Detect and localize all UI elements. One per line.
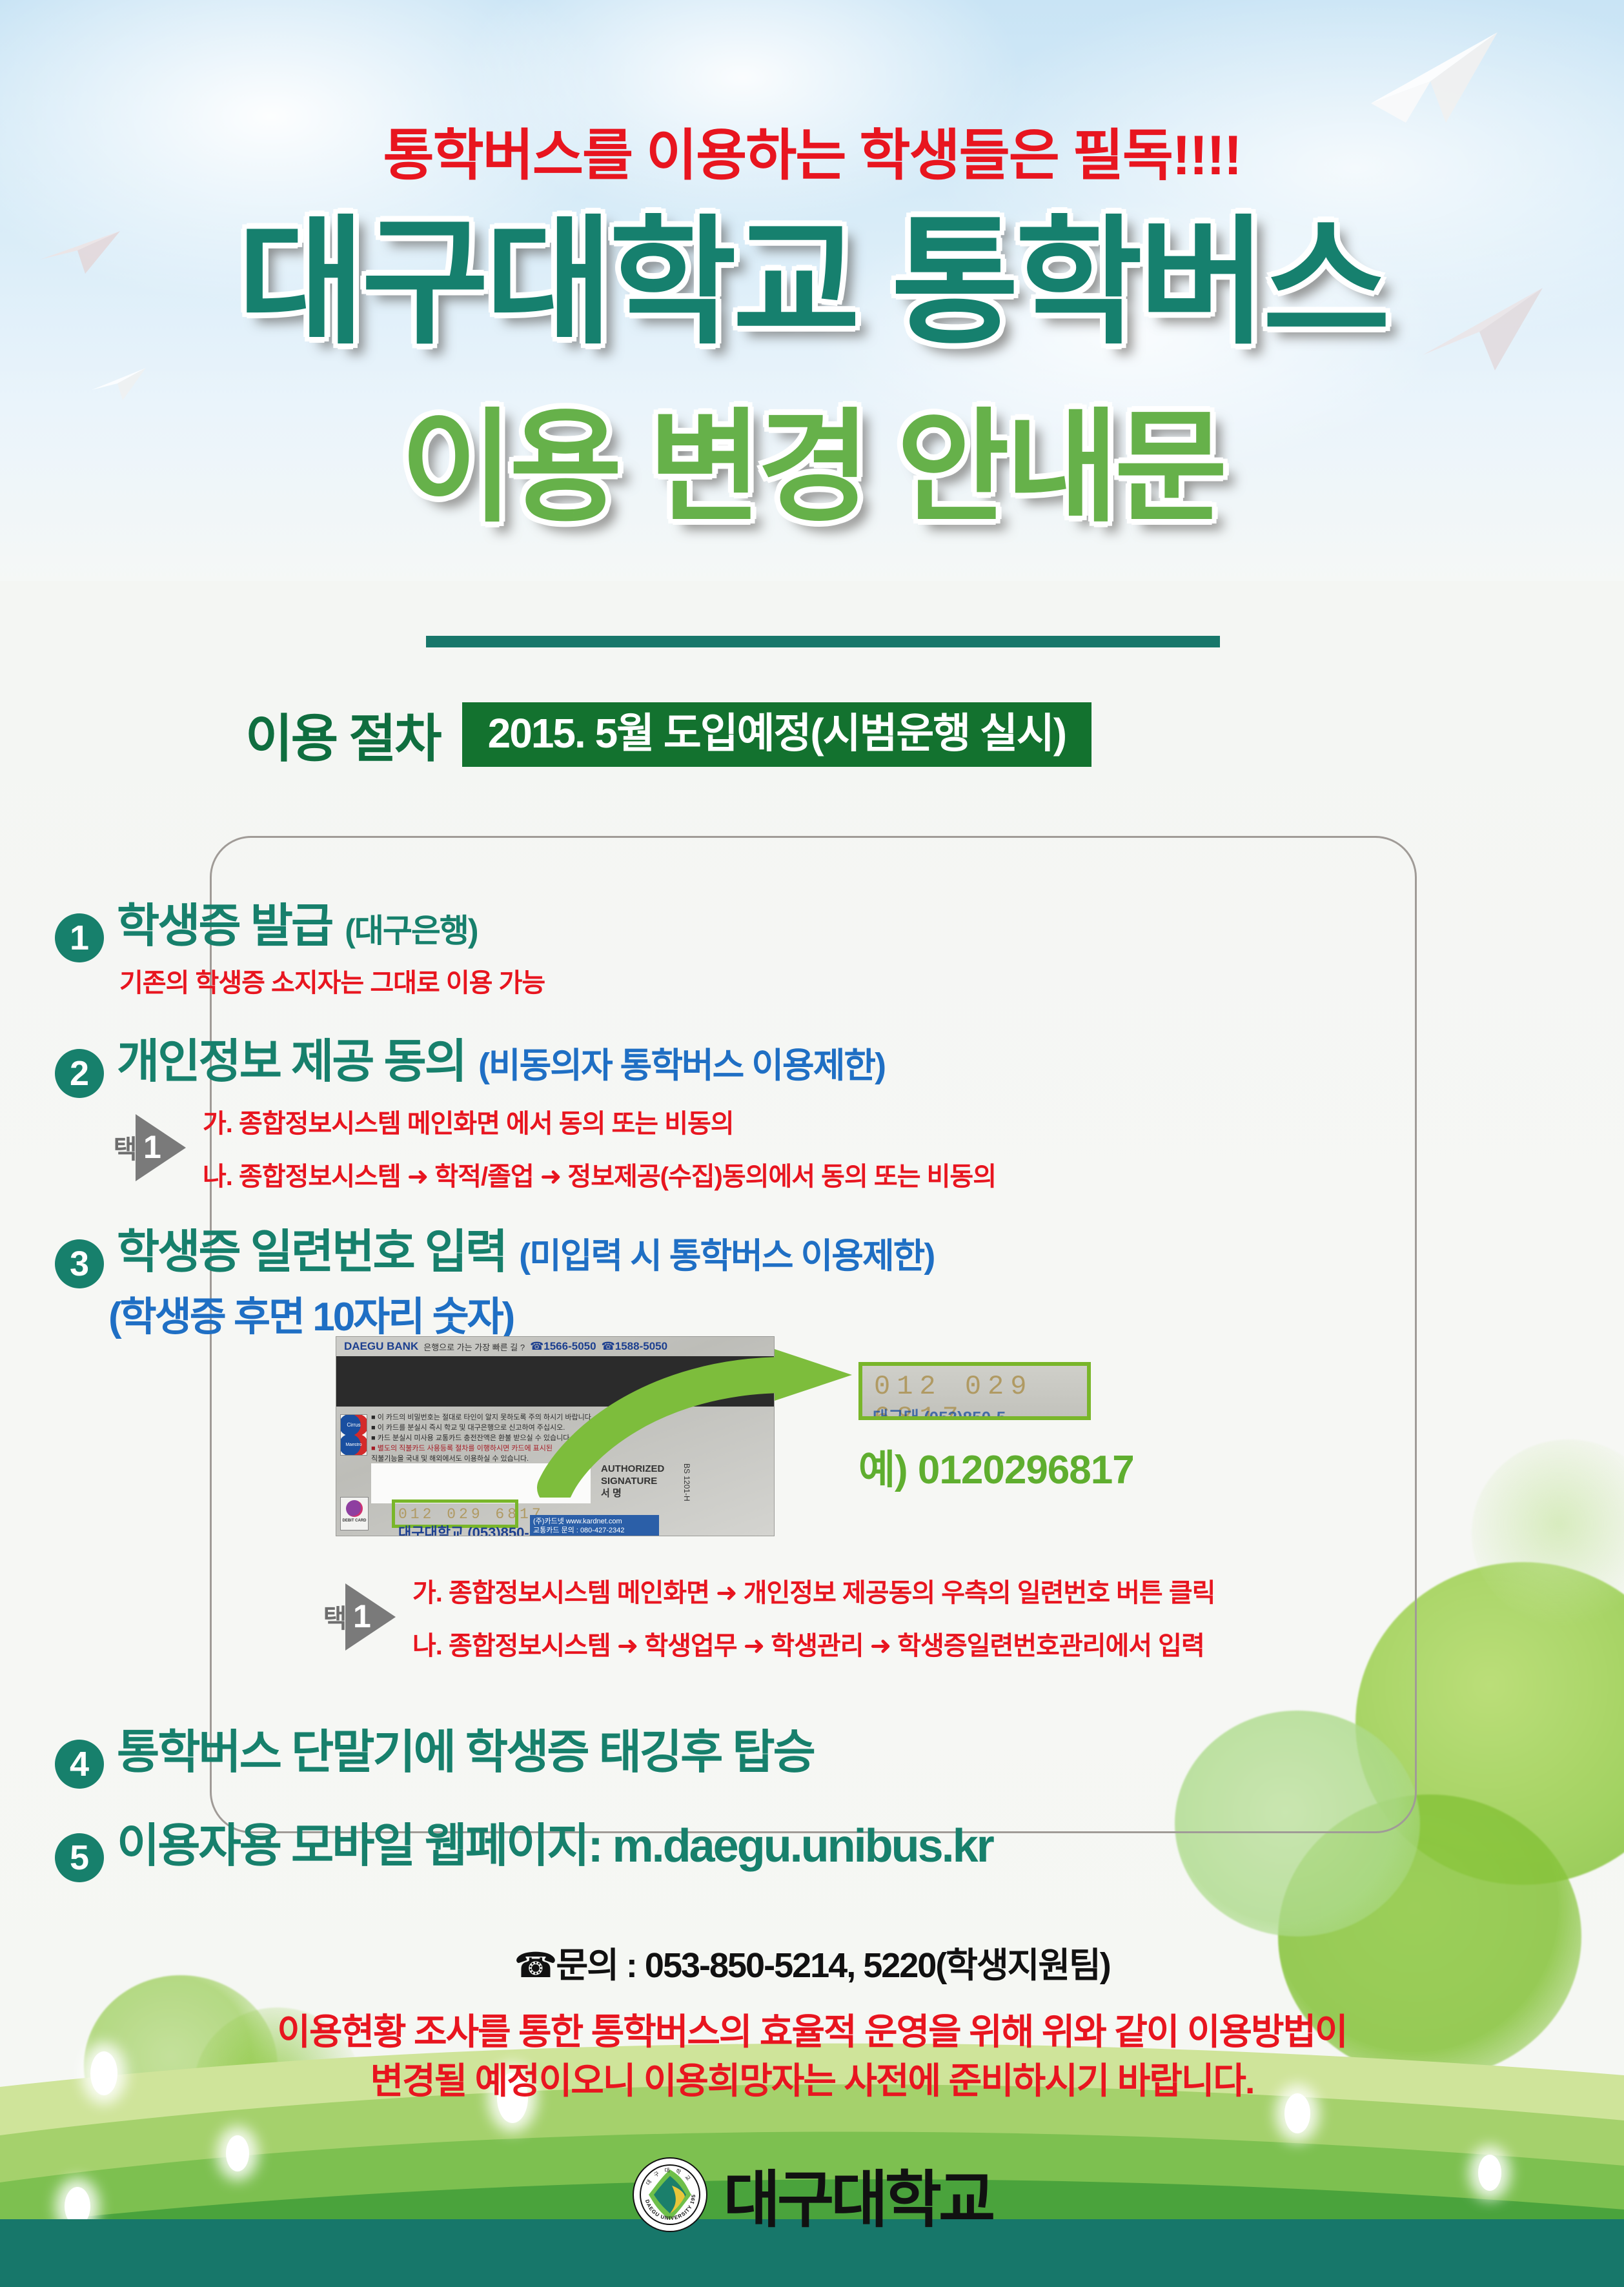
debit-label: DEBIT CARD — [341, 1519, 368, 1523]
student-card-illustration: DAEGU BANK 은행으로 가는 가장 빠른 길 ? ☎1566-5050 … — [336, 1336, 1343, 1543]
procedure-label: 이용 절차 — [245, 697, 440, 772]
pick-one-group: 택 1 가. 종합정보시스템 메인화면 에서 동의 또는 비동의 나. 종합정보… — [0, 1103, 1624, 1193]
notice-block: 이용현황 조사를 통한 통학버스의 효율적 운영을 위해 위와 같이 이용방법이… — [0, 2007, 1624, 2105]
step-2: 2 개인정보 제공 동의 (비동의자 통학버스 이용제한) 택 1 가. 종합정… — [0, 1023, 1624, 1193]
step-1: 1 학생증 발급 (대구은행) 기존의 학생증 소지자는 그대로 이용 가능 — [0, 888, 1624, 999]
step-subnote: (학생증 후면 10자리 숫자) — [0, 1284, 1624, 1342]
contact-line: ☎문의 : 053-850-5214, 5220(학생지원팀) — [0, 1936, 1624, 1987]
procedure-badge: 2015. 5월 도입예정(시범운행 실시) — [462, 702, 1091, 767]
step-note: (대구은행) — [345, 905, 477, 951]
step-title: 이용자용 모바일 웹페이지: m.daegu.unibus.kr — [117, 1807, 993, 1875]
serial-zoom-subtext: 대구대 (053)850-5 — [873, 1405, 1006, 1420]
headline-red: 통학버스를 이용하는 학생들은 필독!!!! — [0, 110, 1624, 190]
step-subnote: 기존의 학생증 소지자는 그대로 이용 가능 — [0, 962, 1624, 999]
debit-card-logo-icon: DEBIT CARD — [340, 1497, 369, 1530]
page-title-line1: 대구대학교 통학버스 — [0, 213, 1624, 352]
step-number-circle: 1 — [55, 913, 104, 962]
step-option: 나. 종합정보시스템 ➜ 학생업무 ➜ 학생관리 ➜ 학생증일련번호관리에서 입… — [412, 1625, 1215, 1662]
pick-number: 1 — [143, 1131, 161, 1163]
notice-line-2: 변경될 예정이오니 이용희망자는 사전에 준비하시기 바랍니다. — [0, 2057, 1624, 2106]
step-number-circle: 2 — [55, 1049, 104, 1098]
serial-example-text: 예) 0120296817 — [858, 1437, 1134, 1495]
notice-line-1: 이용현황 조사를 통한 통학버스의 효율적 운영을 위해 위와 같이 이용방법이 — [0, 2007, 1624, 2057]
pick-label: 택 — [110, 1135, 136, 1161]
step-number-circle: 3 — [55, 1239, 104, 1288]
step-note: (비동의자 통학버스 이용제한) — [478, 1037, 885, 1088]
step-option: 가. 종합정보시스템 메인화면 에서 동의 또는 비동의 — [203, 1103, 996, 1140]
step-option: 나. 종합정보시스템 ➜ 학적/졸업 ➜ 정보제공(수집)동의에서 동의 또는 … — [203, 1155, 996, 1193]
kardnet-panel: (주)카드넷 www.kardnet.com 교통카드 문의 : 080-427… — [530, 1515, 659, 1536]
card-bank-name: DAEGU BANK — [344, 1340, 418, 1353]
serial-callout: 012 029 6817 대구대 (053)850-5 예) 012029681… — [858, 1362, 1134, 1495]
pick-number: 1 — [353, 1600, 371, 1632]
serial-zoom-image: 012 029 6817 대구대 (053)850-5 — [858, 1362, 1091, 1420]
page-title-line2: 이용 변경 안내문 — [0, 407, 1624, 529]
step-title: 통학버스 단말기에 학생증 태깅후 탑승 — [117, 1714, 814, 1782]
step-number-circle: 5 — [55, 1833, 104, 1882]
pick-arrow-icon: 1 — [345, 1583, 396, 1651]
university-name: 대구대학교 — [724, 2150, 993, 2239]
pick-label: 택 — [320, 1605, 345, 1630]
step-title: 개인정보 제공 동의 — [117, 1023, 465, 1091]
paper-plane-icon — [90, 361, 148, 403]
cirrus-maestro-logo-icon: Cirrus Maestro — [340, 1414, 367, 1456]
procedure-header: 이용 절차 2015. 5월 도입예정(시범운행 실시) — [245, 697, 1091, 772]
step-4: 4 통학버스 단말기에 학생증 태깅후 탑승 — [0, 1714, 1624, 1782]
cirrus-label: Cirrus — [341, 1415, 367, 1435]
step-5: 5 이용자용 모바일 웹페이지: m.daegu.unibus.kr — [0, 1807, 1624, 1875]
footer-logo: 대 구 대 학 교 DAEGU UNIVERSITY 1956 대구대학교 — [0, 2150, 1624, 2239]
step-3: 3 학생증 일련번호 입력 (미입력 시 통학버스 이용제한) (학생증 후면 … — [0, 1214, 1624, 1342]
step-title: 학생증 일련번호 입력 — [117, 1214, 506, 1281]
card-serial-number: 012 029 6817 — [398, 1506, 544, 1523]
curved-arrow-icon — [529, 1349, 891, 1498]
step-note: (미입력 시 통학버스 이용제한) — [519, 1227, 934, 1278]
university-emblem-icon: 대 구 대 학 교 DAEGU UNIVERSITY 1956 — [632, 2157, 708, 2233]
maestro-label: Maestro — [341, 1435, 367, 1455]
step-number-circle: 4 — [55, 1740, 104, 1789]
card-tagline: 은행으로 가는 가장 빠른 길 ? — [423, 1341, 525, 1353]
step-title: 학생증 발급 — [117, 888, 332, 955]
pick-arrow-icon: 1 — [136, 1114, 186, 1181]
step-option: 가. 종합정보시스템 메인화면 ➜ 개인정보 제공동의 우측의 일련번호 버튼 … — [412, 1572, 1215, 1609]
title-divider — [426, 636, 1220, 647]
pick-one-group: 택 1 가. 종합정보시스템 메인화면 ➜ 개인정보 제공동의 우측의 일련번호… — [320, 1572, 1215, 1662]
